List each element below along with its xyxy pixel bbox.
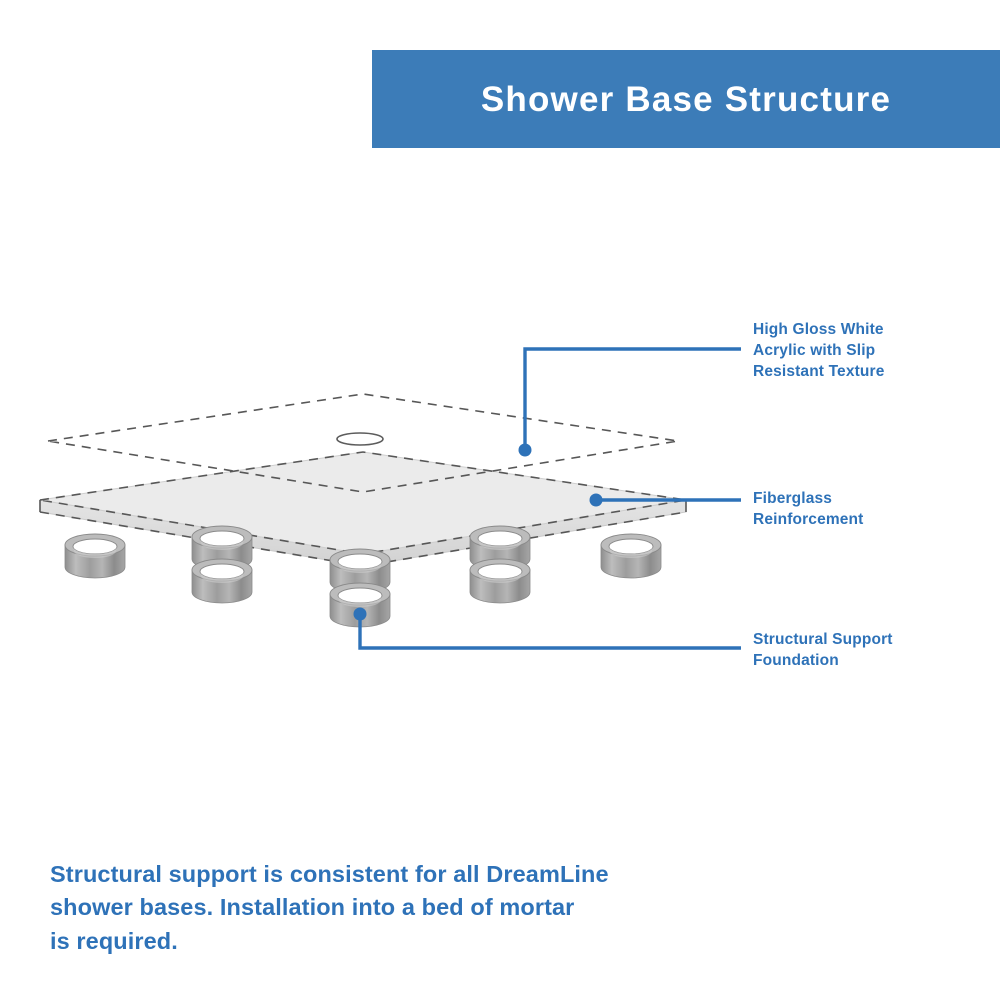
callout-label-fiberglass: Fiberglass Reinforcement <box>753 489 985 531</box>
fiberglass-slab-layer <box>40 452 686 566</box>
leader-dot-fiberglass <box>590 494 603 507</box>
support-ring <box>601 534 661 578</box>
support-ring-front <box>330 583 390 627</box>
support-ring-group <box>65 526 661 627</box>
support-ring <box>65 534 125 578</box>
poster-canvas: Shower Base Structure <box>0 0 1000 1000</box>
leader-line-acrylic <box>525 349 741 450</box>
callout-label-structural-support: Structural Support Foundation <box>753 630 985 672</box>
leader-line-support <box>360 614 741 648</box>
drain-opening-icon <box>337 433 383 445</box>
footer-caption: Structural support is consistent for all… <box>50 858 690 958</box>
acrylic-top-layer <box>48 394 678 492</box>
support-ring <box>470 526 530 570</box>
title-banner: Shower Base Structure <box>372 50 1000 148</box>
leader-dot-acrylic <box>519 444 532 457</box>
support-ring <box>192 559 252 603</box>
support-ring <box>330 549 390 593</box>
leader-lines <box>354 349 742 648</box>
support-ring <box>192 526 252 570</box>
callout-label-acrylic: High Gloss White Acrylic with Slip Resis… <box>753 320 985 382</box>
page-title: Shower Base Structure <box>481 82 891 117</box>
support-ring <box>470 559 530 603</box>
leader-dot-support <box>354 608 367 621</box>
